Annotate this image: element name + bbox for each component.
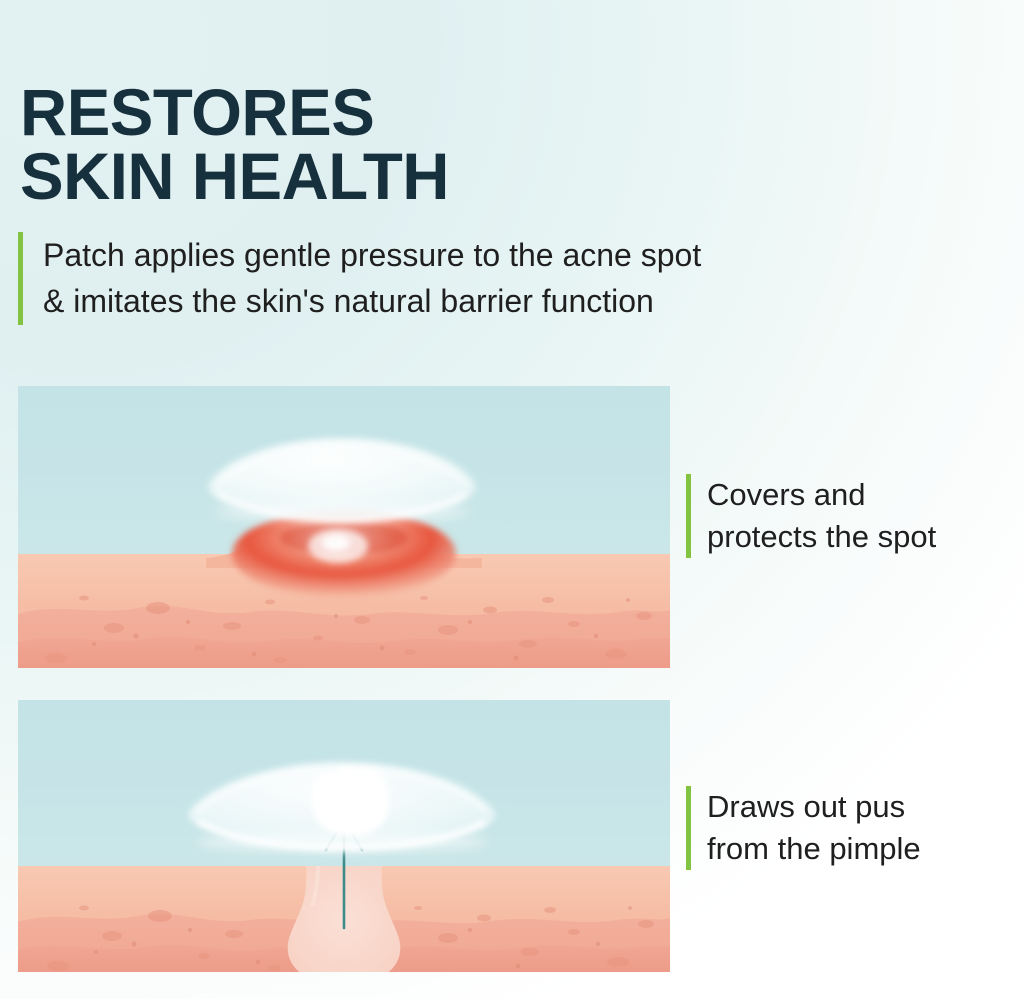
patch-underglow — [214, 502, 470, 522]
subtitle-line-2: & imitates the skin's natural barrier fu… — [43, 278, 701, 324]
page-title: RESTORES SKIN HEALTH — [20, 80, 660, 208]
acne-patch-over-pimple-icon — [18, 386, 670, 668]
caption-covers-line-2: protects the spot — [707, 516, 936, 558]
caption-covers: Covers and protects the spot — [686, 474, 936, 558]
headline-line-2: SKIN HEALTH — [20, 144, 654, 208]
infographic-page: RESTORES SKIN HEALTH Patch applies gentl… — [0, 0, 1024, 999]
headline-line-1: RESTORES — [20, 80, 654, 144]
pimple-core-highlight — [322, 535, 350, 551]
illustration-panel-draws — [18, 700, 670, 972]
absorbed-pus-blob — [312, 767, 390, 836]
caption-draws-line-2: from the pimple — [707, 828, 921, 870]
illustration-panel-covers — [18, 386, 670, 668]
subtitle-block: Patch applies gentle pressure to the acn… — [18, 232, 701, 325]
caption-draws: Draws out pus from the pimple — [686, 786, 921, 870]
caption-covers-line-1: Covers and — [707, 474, 936, 516]
caption-draws-line-1: Draws out pus — [707, 786, 921, 828]
acne-patch-absorbing-pus-icon — [18, 700, 670, 972]
subtitle-line-1: Patch applies gentle pressure to the acn… — [43, 232, 701, 278]
